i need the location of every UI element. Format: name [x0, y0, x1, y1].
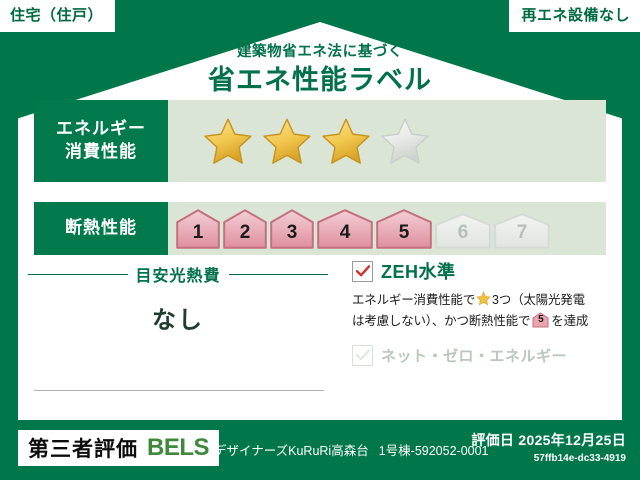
- utility-cost-title: 目安光熱費: [136, 262, 221, 286]
- insulation-badge-value: 5: [399, 223, 410, 249]
- insulation-badge-value: 6: [458, 223, 469, 249]
- energy-performance-label: エネルギー 消費性能: [34, 100, 168, 182]
- energy-performance-value: [168, 100, 606, 182]
- net-zero-label: ネット・ゼロ・エネルギー: [381, 345, 567, 366]
- energy-label-line-2: 消費性能: [65, 141, 137, 164]
- tag-renewable-energy: 再エネ設備なし: [509, 0, 640, 32]
- tag-building-type: 住宅（住戸）: [0, 0, 115, 32]
- star-filled-icon: [320, 116, 372, 166]
- star-empty-icon: [379, 116, 431, 166]
- mini-star-icon: [476, 291, 491, 312]
- insulation-badge-value: 3: [287, 223, 298, 249]
- insulation-performance-label: 断熱性能: [34, 202, 168, 255]
- insulation-badge-3: 3: [270, 209, 314, 249]
- zeh-checkbox-checked-icon: [352, 261, 373, 282]
- evaluation-date-block: 評価日 2025年12月25日 57ffb14e-dc33-4919: [471, 430, 626, 464]
- zeh-desc-part-1: エネルギー消費性能で: [352, 293, 475, 307]
- evaluation-date: 評価日 2025年12月25日: [471, 430, 626, 450]
- page-title: 省エネ性能ラベル: [0, 58, 640, 97]
- zeh-title-row: ZEH水準: [352, 258, 608, 284]
- zeh-title-text: ZEH水準: [381, 258, 456, 284]
- insulation-badge-4: 4: [317, 209, 373, 249]
- energy-label-line-1: エネルギー: [56, 118, 146, 141]
- cost-rule-left: [28, 274, 128, 275]
- building-identification: デザイナーズKuRuRi高森台1号棟-592052-0001: [214, 440, 489, 459]
- star-rating: [168, 116, 431, 166]
- insulation-badge-5: 5: [376, 209, 432, 249]
- insulation-badge-6: 6: [435, 213, 491, 249]
- insulation-badge-value: 4: [340, 223, 351, 249]
- energy-performance-row: エネルギー 消費性能: [34, 100, 606, 182]
- zeh-description: エネルギー消費性能で 3つ（太陽光発電 は考慮しない）、かつ断熱性能で 5 を達…: [352, 291, 608, 332]
- insulation-badge-value: 2: [240, 223, 251, 249]
- mini-badge-value: 5: [532, 312, 549, 328]
- insulation-badge-value: 7: [517, 223, 528, 249]
- insulation-performance-value: 1234567: [168, 202, 606, 255]
- bels-energy-label: 住宅（住戸） 再エネ設備なし 建築物省エネ法に基づく 省エネ性能ラベル エネルギ…: [0, 0, 640, 480]
- third-party-evaluation-text: 第三者評価: [28, 433, 138, 463]
- zeh-desc-part-2: は考慮しない）、かつ断熱性能で: [352, 314, 530, 328]
- utility-cost-header: 目安光熱費: [28, 262, 328, 286]
- insulation-badge-1: 1: [176, 209, 220, 249]
- mini-insulation-badge: 5: [532, 312, 549, 328]
- footer-bar: 第三者評価 BELS デザイナーズKuRuRi高森台1号棟-592052-000…: [0, 422, 640, 480]
- insulation-label-text: 断熱性能: [65, 217, 137, 240]
- insulation-performance-row: 断熱性能 1234567: [34, 202, 606, 255]
- star-filled-icon: [202, 116, 254, 166]
- bels-logo-text: BELS: [147, 434, 209, 462]
- insulation-badge-2: 2: [223, 209, 267, 249]
- zeh-desc-star-count: 3つ（太陽光発電: [492, 293, 585, 307]
- star-filled-icon: [261, 116, 313, 166]
- insulation-grade-scale: 1234567: [168, 209, 550, 249]
- cost-rule-right: [229, 274, 329, 275]
- third-party-evaluation-badge: 第三者評価 BELS: [18, 430, 219, 466]
- cost-bottom-divider: [34, 390, 324, 391]
- insulation-badge-7: 7: [494, 213, 550, 249]
- net-zero-energy-row: ネット・ゼロ・エネルギー: [352, 345, 608, 366]
- building-name: デザイナーズKuRuRi高森台: [214, 444, 369, 458]
- utility-cost-value: なし: [28, 300, 328, 335]
- zeh-block: ZEH水準 エネルギー消費性能で 3つ（太陽光発電 は考慮しない）、かつ断熱性能…: [352, 258, 608, 366]
- label-uid: 57ffb14e-dc33-4919: [471, 453, 626, 464]
- zeh-desc-part-3: を達成: [551, 314, 588, 328]
- net-zero-checkbox-unchecked-icon: [352, 345, 373, 366]
- insulation-badge-value: 1: [193, 223, 204, 249]
